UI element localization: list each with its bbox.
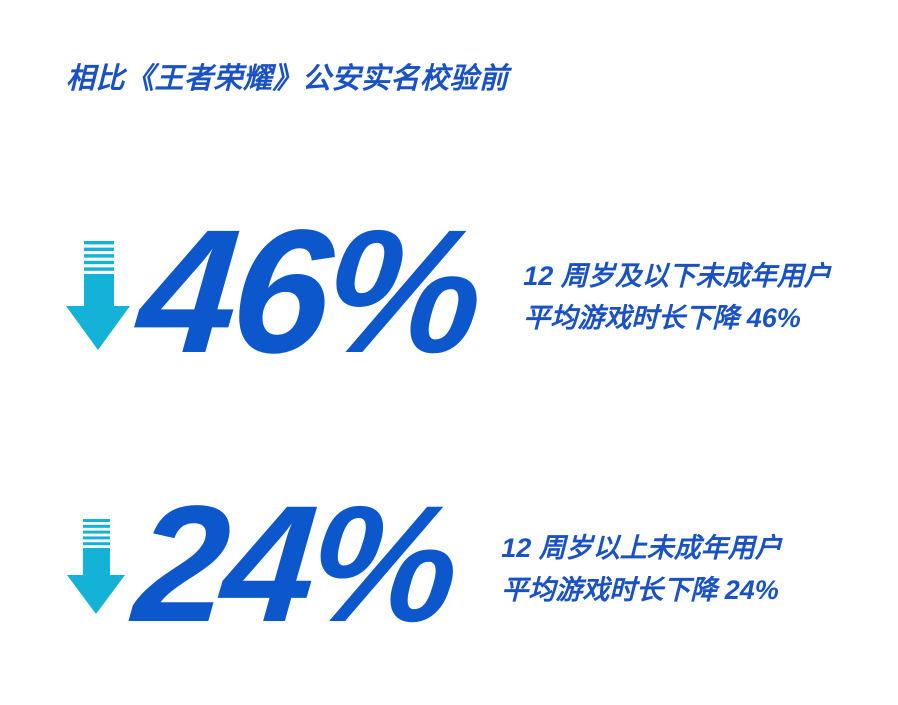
infographic-canvas: 相比《王者荣耀》公安实名校验前 46% 12 周岁及以下未成年用户 平均游戏时长… bbox=[0, 0, 898, 705]
stat-row: 24% 12 周岁以上未成年用户 平均游戏时长下降 24% bbox=[0, 482, 898, 652]
stat-description: 12 周岁以上未成年用户 平均游戏时长下降 24% bbox=[501, 528, 782, 612]
stat-description-line-2: 平均游戏时长下降 46% bbox=[523, 298, 831, 340]
stat-description-line-1: 12 周岁及以下未成年用户 bbox=[523, 256, 831, 298]
stat-description-line-1: 12 周岁以上未成年用户 bbox=[501, 528, 782, 570]
down-arrow-icon bbox=[64, 517, 128, 617]
stat-value: 24% bbox=[130, 495, 459, 634]
stat-description: 12 周岁及以下未成年用户 平均游戏时长下降 46% bbox=[523, 256, 831, 340]
page-title: 相比《王者荣耀》公安实名校验前 bbox=[66, 62, 509, 97]
stat-row: 46% 12 周岁及以下未成年用户 平均游戏时长下降 46% bbox=[0, 206, 898, 386]
stat-description-line-2: 平均游戏时长下降 24% bbox=[501, 570, 782, 612]
stat-value: 46% bbox=[134, 219, 484, 367]
down-arrow-icon bbox=[62, 239, 134, 354]
